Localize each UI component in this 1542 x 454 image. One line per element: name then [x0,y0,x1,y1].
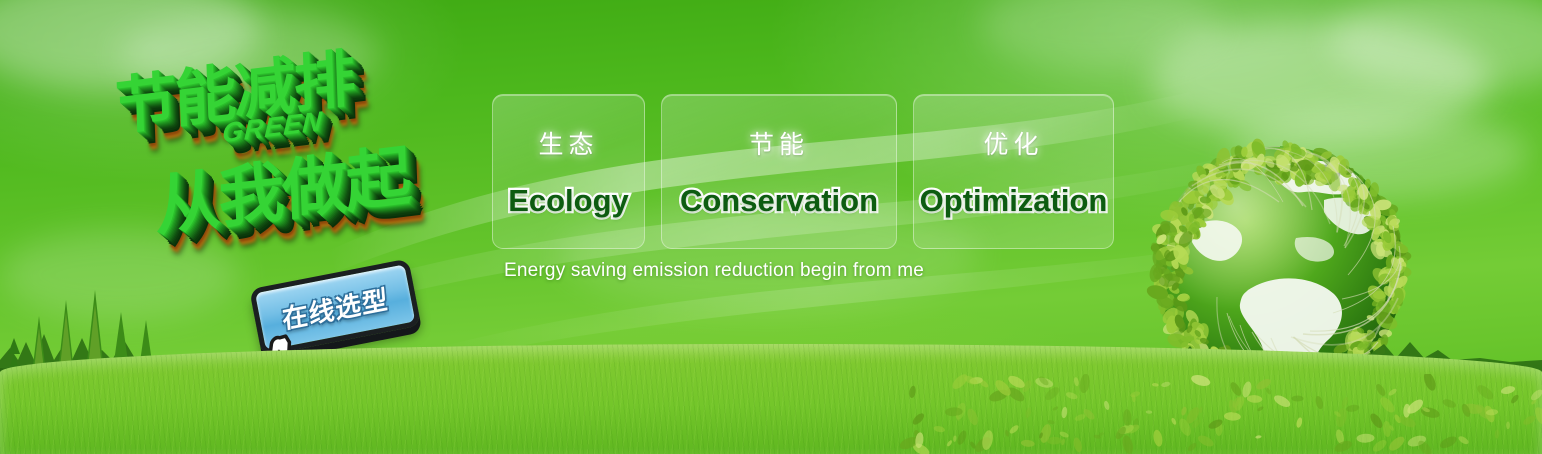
feature-card-conservation[interactable]: 节能 Conservation [661,94,897,249]
feature-card-cn-label: 生态 [538,125,598,161]
fallen-leaves-icon [900,374,1542,454]
feature-card-en-label: Conservation [680,183,878,219]
feature-card-cn-label: 优化 [983,125,1043,161]
feature-card-optimization[interactable]: 优化 Optimization [913,94,1114,249]
headline-3d: 节能减排 GREEN 从我做起 [96,38,516,278]
eco-promo-banner: 节能减排 GREEN 从我做起 在线选型 生态 Ecology 节能 Conse… [0,0,1542,454]
headline-line-2: 从我做起 [153,122,410,250]
feature-card-cn-label: 节能 [749,125,809,161]
banner-tagline: Energy saving emission reduction begin f… [504,260,924,282]
feature-card-en-label: Ecology [508,183,629,219]
feature-card-ecology[interactable]: 生态 Ecology [492,94,645,249]
feature-card-en-label: Optimization [920,183,1108,219]
feature-card-list: 生态 Ecology 节能 Conservation 优化 Optimizati… [492,94,1114,249]
